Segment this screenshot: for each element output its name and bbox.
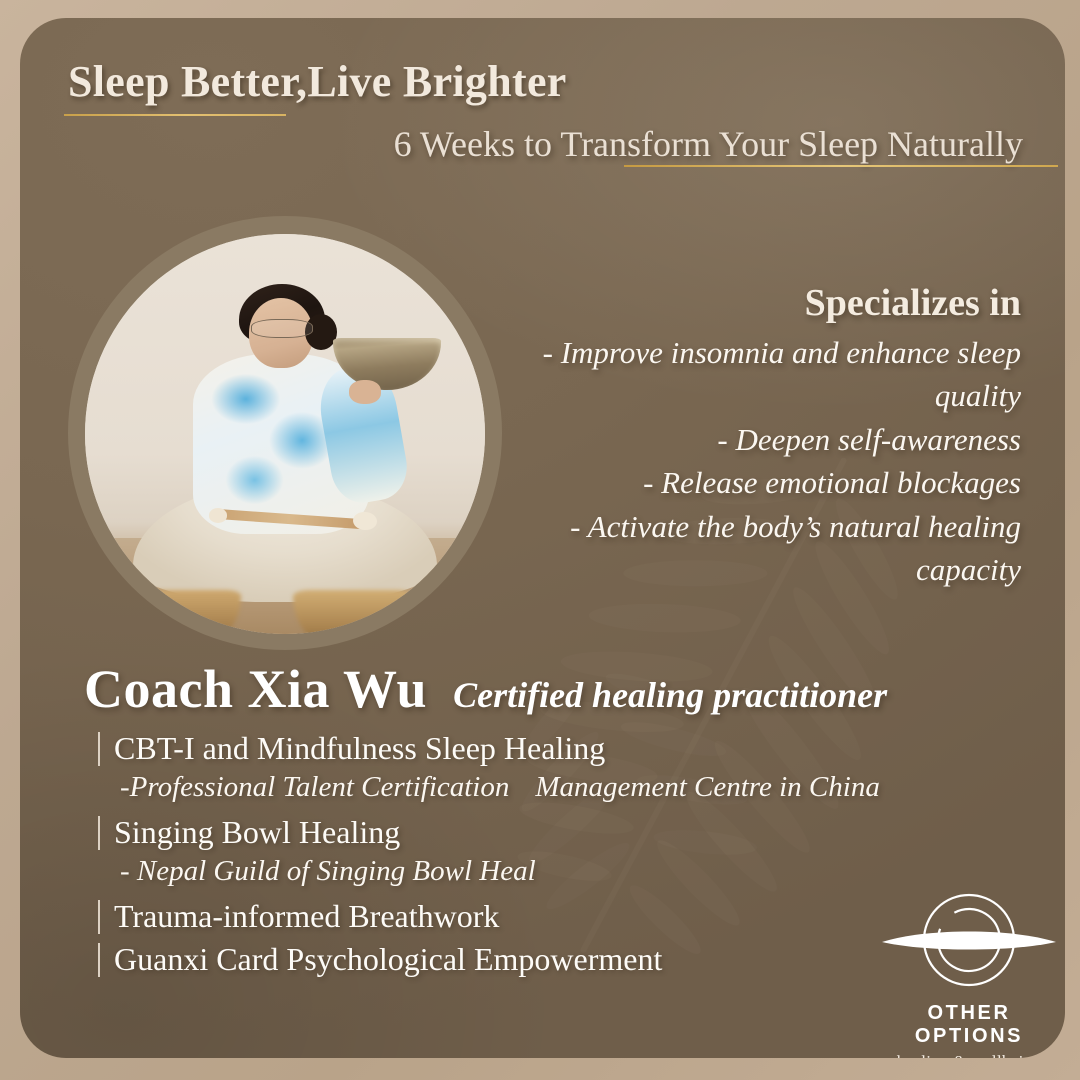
specializes-item: - Deepen self-awareness [501, 418, 1021, 461]
bullet-bar-icon [98, 900, 100, 934]
poster-card: Sleep Better,Live Brighter 6 Weeks to Tr… [20, 18, 1065, 1058]
headline-gold-rule [64, 114, 286, 116]
credential-issuer-prefix: -Professional Talent Certification [120, 771, 509, 803]
credential-title: Guanxi Card Psychological Empowerment [114, 941, 662, 978]
portrait-glasses [251, 319, 313, 338]
specializes-title: Specializes in [501, 281, 1021, 325]
bullet-bar-icon [98, 816, 100, 850]
subtitle-gold-rule [624, 165, 1058, 167]
credential-heading: Singing Bowl Healing [98, 814, 1025, 851]
page-title: Sleep Better,Live Brighter [68, 56, 567, 107]
credential-issuer: -Professional Talent CertificationManage… [120, 771, 1025, 804]
coach-name: Coach Xia Wu [84, 658, 427, 720]
portrait-hand [349, 380, 381, 404]
credential-item: Singing Bowl Healing - Nepal Guild of Si… [98, 814, 1025, 888]
specializes-item: - Improve insomnia and enhance sleep qua… [501, 331, 1021, 418]
singing-bowl-foreground-left [133, 590, 241, 634]
logo-wordmark: OTHER OPTIONS [878, 1002, 1060, 1048]
specializes-section: Specializes in - Improve insomnia and en… [501, 281, 1021, 591]
poster-canvas: Sleep Better,Live Brighter 6 Weeks to Tr… [0, 0, 1080, 1080]
coach-portrait [85, 234, 485, 634]
credential-item: CBT-I and Mindfulness Sleep Healing -Pro… [98, 730, 1025, 804]
credential-title: CBT-I and Mindfulness Sleep Healing [114, 730, 605, 767]
bullet-bar-icon [98, 943, 100, 977]
singing-bowl-foreground-right [293, 590, 413, 634]
credential-title: Singing Bowl Healing [114, 814, 400, 851]
bullet-bar-icon [98, 732, 100, 766]
specializes-item: - Release emotional blockages [501, 461, 1021, 504]
credential-issuer: - Nepal Guild of Singing Bowl Heal [120, 855, 1025, 888]
logo-tagline: healing & wellbeing [878, 1052, 1060, 1058]
credential-issuer-suffix: Management Centre in China [535, 771, 879, 803]
coach-name-row: Coach Xia Wu Certified healing practitio… [84, 658, 1021, 720]
portrait-red-object [457, 550, 477, 566]
circles-sweep-logo-icon [878, 890, 1060, 994]
credential-heading: CBT-I and Mindfulness Sleep Healing [98, 730, 1025, 767]
mallet-head-left [209, 508, 227, 522]
credential-title: Trauma-informed Breathwork [114, 898, 499, 935]
brand-logo: OTHER OPTIONS healing & wellbeing [878, 890, 1060, 1058]
coach-role: Certified healing practitioner [453, 674, 887, 716]
specializes-item: - Activate the body’s natural healing ca… [501, 505, 1021, 592]
page-subtitle: 6 Weeks to Transform Your Sleep Naturall… [394, 123, 1023, 165]
